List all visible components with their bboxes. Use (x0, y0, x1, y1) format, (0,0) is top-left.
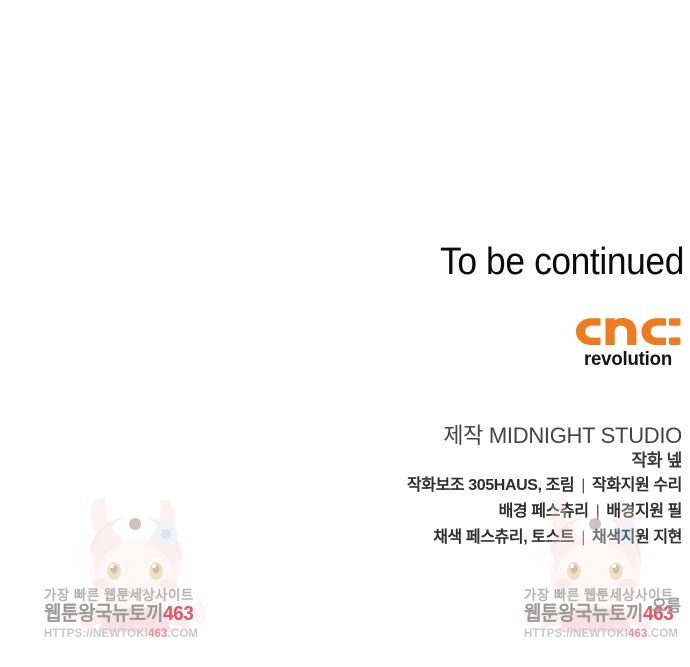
credit-row: 배경 페스츄리|배경지원 필 (0, 499, 682, 525)
credit-role-left: 채색 페스츄리, 토스트 (433, 529, 574, 546)
credit-role-left: 배경 페스츄리 (499, 503, 589, 520)
credit-row: 채색 페스츄리, 토스트|채색지원 지현 (0, 525, 682, 551)
credit-separator: | (574, 473, 592, 499)
credit-role-right: 배경지원 필 (606, 503, 682, 520)
credit-separator: | (574, 525, 592, 551)
credit-artist-line: 작화 넾 (0, 449, 682, 473)
cnc-logo-mark (574, 314, 682, 348)
watermark-url-prefix: HTTPS://NEWTOKI (524, 626, 628, 640)
to-be-continued-text: To be continued (48, 240, 684, 284)
credits-block: 제작 MIDNIGHT STUDIO 작화 넾 작화보조 305HAUS, 조림… (0, 422, 682, 551)
watermark-site-name: 웹툰왕국뉴토끼463 (44, 604, 211, 624)
cnc-revolution-logo: revolution (574, 314, 682, 370)
watermark-site-number: 463 (163, 603, 193, 625)
credit-role-right: 채색지원 지현 (592, 529, 682, 546)
webtoon-ending-page: To be continued revolution 제작 MIDNIGHT S… (0, 0, 690, 667)
watermark-site-number: 463 (643, 603, 673, 625)
watermark-site-label: 웹툰왕국뉴토끼 (44, 603, 163, 625)
credit-role-right: 작화지원 수리 (592, 477, 682, 494)
credit-role-left: 작화보조 305HAUS, 조림 (407, 477, 574, 494)
watermark-site-name: 웹툰왕국뉴토끼463 (524, 604, 690, 624)
watermark-extra-fragment: 오름 (652, 592, 680, 616)
watermark-url-suffix: .COM (168, 626, 199, 640)
watermark-url-suffix: .COM (648, 626, 679, 640)
credit-row: 작화보조 305HAUS, 조림|작화지원 수리 (0, 473, 682, 499)
watermark-url-prefix: HTTPS://NEWTOKI (44, 626, 148, 640)
watermark-url-number: 463 (148, 626, 168, 640)
credit-separator: | (589, 499, 607, 525)
cnc-logo-wordmark: revolution (575, 350, 681, 370)
watermark-url-number: 463 (628, 626, 648, 640)
watermark-url: HTTPS://NEWTOKI463.COM (524, 627, 690, 639)
site-watermark: 가장 빠른 웹툰세상사이트 웹툰왕국뉴토끼463 HTTPS://NEWTOKI… (524, 588, 690, 639)
watermark-url: HTTPS://NEWTOKI463.COM (44, 627, 211, 639)
watermark-tagline: 가장 빠른 웹툰세상사이트 (44, 588, 213, 602)
watermark-site-label: 웹툰왕국뉴토끼 (524, 603, 643, 625)
watermark-tagline: 가장 빠른 웹툰세상사이트 (524, 588, 690, 602)
credit-studio-line: 제작 MIDNIGHT STUDIO (0, 422, 682, 449)
site-watermark: 가장 빠른 웹툰세상사이트 웹툰왕국뉴토끼463 HTTPS://NEWTOKI… (44, 588, 220, 639)
